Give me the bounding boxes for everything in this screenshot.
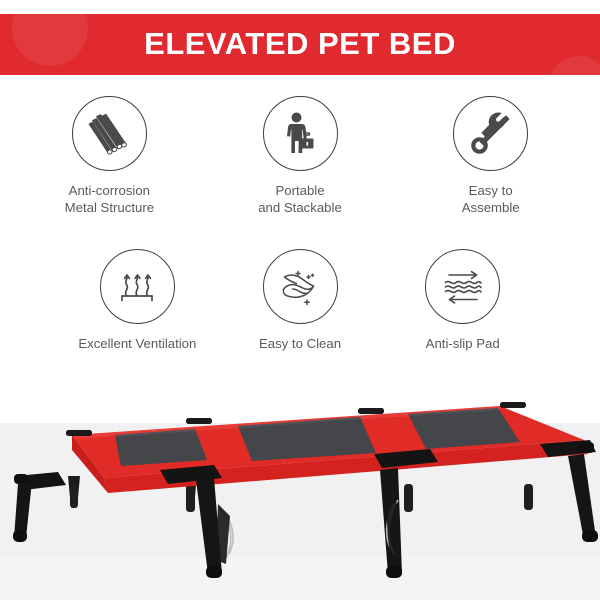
feature-label: Easy to Assemble xyxy=(462,182,520,216)
feature-icon-frame xyxy=(72,96,147,171)
feature-icon-frame xyxy=(100,249,175,324)
feature-icon-frame xyxy=(263,96,338,171)
feature-item-easy-clean: Easy to Clean xyxy=(219,249,382,352)
wrench-screwdriver-icon xyxy=(466,109,516,159)
feature-label: Easy to Clean xyxy=(259,335,341,352)
wiping-hand-sparkle-icon xyxy=(276,263,324,311)
elevated-pet-bed-photo xyxy=(0,388,600,600)
feature-item-anti-slip: Anti-slip Pad xyxy=(381,249,544,352)
feature-label: Excellent Ventilation xyxy=(78,335,196,352)
feature-label: Portable and Stackable xyxy=(258,182,342,216)
page-title: ELEVATED PET BED xyxy=(0,14,600,75)
wavy-lines-arrows-icon xyxy=(438,264,488,310)
feature-icon-frame xyxy=(453,96,528,171)
product-photo-panel xyxy=(0,388,600,600)
header-banner: ELEVATED PET BED xyxy=(0,14,600,75)
feature-item-portable: Portable and Stackable xyxy=(205,96,396,216)
feature-label: Anti-corrosion Metal Structure xyxy=(65,182,154,216)
feature-icon-frame xyxy=(425,249,500,324)
elevated-pet-bed-illustration xyxy=(0,388,600,600)
airflow-arrows-icon xyxy=(114,264,160,310)
feature-item-easy-assemble: Easy to Assemble xyxy=(395,96,586,216)
feature-row-top: Anti-corrosion Metal Structure Portable … xyxy=(0,96,600,216)
metal-tubes-icon xyxy=(83,108,135,160)
feature-row-bottom: Excellent Ventilation xyxy=(0,249,600,352)
feature-label: Anti-slip Pad xyxy=(426,335,500,352)
person-carrying-case-icon xyxy=(275,109,325,159)
feature-item-ventilation: Excellent Ventilation xyxy=(56,249,219,352)
feature-item-anti-corrosion: Anti-corrosion Metal Structure xyxy=(14,96,205,216)
feature-grid: Anti-corrosion Metal Structure Portable … xyxy=(0,96,600,388)
feature-icon-frame xyxy=(263,249,338,324)
